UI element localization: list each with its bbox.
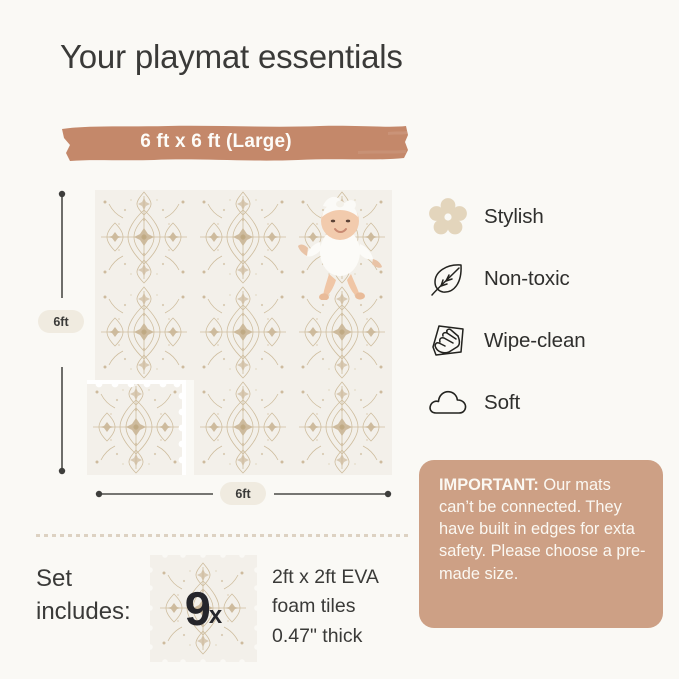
feature-item-non-toxic: Non-toxic [428,248,668,310]
feature-label: Stylish [484,205,544,229]
important-callout: IMPORTANT: Our mats can’t be connected. … [419,460,663,628]
mat-tile [293,285,392,380]
feature-item-stylish: Stylish [428,186,668,248]
leaf-icon [428,259,484,299]
size-banner: 6 ft x 6 ft (Large) [58,120,410,164]
feature-item-wipe-clean: Wipe-clean [428,310,668,372]
feature-label: Non-toxic [484,267,570,291]
page-title: Your playmat essentials [60,38,403,76]
mat-tile [194,190,293,285]
feature-item-soft: Soft [428,372,668,434]
feature-label: Soft [484,391,520,415]
mat-tile [194,285,293,380]
set-description-line2: foam tiles [272,592,452,621]
mat-tile [293,380,392,475]
callout-text: IMPORTANT: Our mats can’t be connected. … [439,474,646,585]
set-includes-label-line1: Set [36,562,131,595]
set-includes-label-line2: includes: [36,595,131,628]
mat-tile [293,190,392,285]
size-banner-label: 6 ft x 6 ft (Large) [58,120,410,164]
detached-mat-tile [87,380,186,475]
section-divider [36,534,408,537]
mat-tile [194,380,293,475]
playmat-illustration [95,190,392,475]
tile-quantity-suffix: x [209,590,222,628]
set-includes-tile-swatch: 9 x [147,552,260,665]
callout-lead: IMPORTANT: [439,476,539,494]
tile-quantity-number: 9 [185,585,209,632]
cloud-icon [428,383,484,423]
flower-icon [428,197,484,237]
set-includes-label: Set includes: [36,562,131,628]
width-dimension-label: 6ft [220,482,266,505]
tile-quantity: 9 x [147,552,260,665]
feature-list: Stylish Non-toxic [428,186,668,434]
mat-tile [95,190,194,285]
playmat-infographic: Your playmat essentials 6 ft x 6 ft (Lar… [0,0,679,679]
set-description-line3: 0.47" thick [272,622,452,651]
mat-tile [95,285,194,380]
feature-label: Wipe-clean [484,329,586,353]
wipe-cloth-icon [428,321,484,361]
height-dimension-label: 6ft [38,310,84,333]
set-includes-description: 2ft x 2ft EVA foam tiles 0.47" thick [272,563,452,651]
set-description-line1: 2ft x 2ft EVA [272,563,452,592]
